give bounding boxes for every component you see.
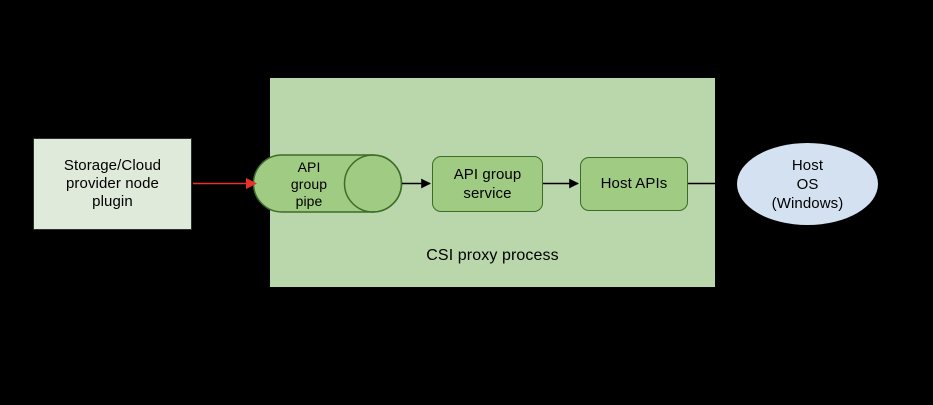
host-os-ellipse[interactable]	[737, 143, 878, 225]
storage-cloud-provider-node-plugin-box[interactable]	[33, 138, 192, 230]
host-apis-box[interactable]	[580, 157, 688, 211]
diagram-canvas: Storage/Cloud provider node plugin API g…	[0, 0, 933, 405]
api-group-service-box[interactable]	[432, 156, 543, 212]
api-group-pipe-shape[interactable]	[254, 155, 402, 212]
